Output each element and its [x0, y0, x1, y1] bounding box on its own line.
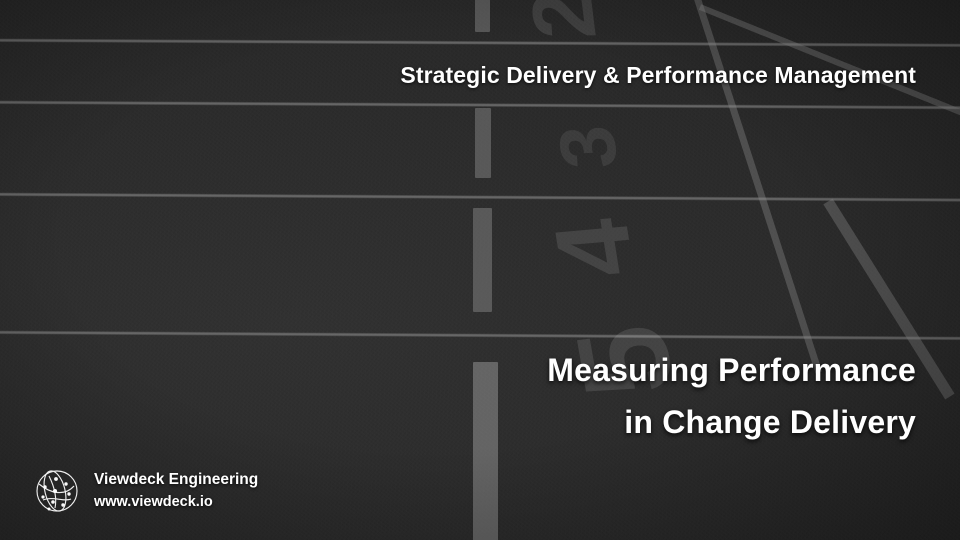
brand-text: Viewdeck Engineering www.viewdeck.io: [94, 469, 258, 512]
brand-url: www.viewdeck.io: [94, 494, 213, 510]
title-line-2: in Change Delivery: [547, 396, 916, 448]
lane-number: 3: [545, 124, 629, 170]
header-title: Strategic Delivery & Performance Managem…: [400, 62, 916, 89]
lane-number: 2: [518, 0, 610, 39]
start-line-marker: [473, 208, 492, 312]
start-line-marker: [473, 362, 498, 540]
title-slide: 2 3 4 5 6 Strategic Delivery & Performan…: [0, 0, 960, 540]
slide-header: Strategic Delivery & Performance Managem…: [400, 62, 916, 89]
network-globe-icon: [31, 466, 81, 516]
brand-lockup: Viewdeck Engineering www.viewdeck.io: [31, 466, 258, 516]
lane-number: 4: [538, 215, 651, 281]
start-line-marker: [475, 108, 491, 178]
title-line-1: Measuring Performance: [547, 344, 916, 396]
page-title: Measuring Performance in Change Delivery: [547, 344, 916, 448]
brand-name: Viewdeck Engineering: [94, 471, 258, 488]
start-line-marker: [475, 0, 490, 32]
